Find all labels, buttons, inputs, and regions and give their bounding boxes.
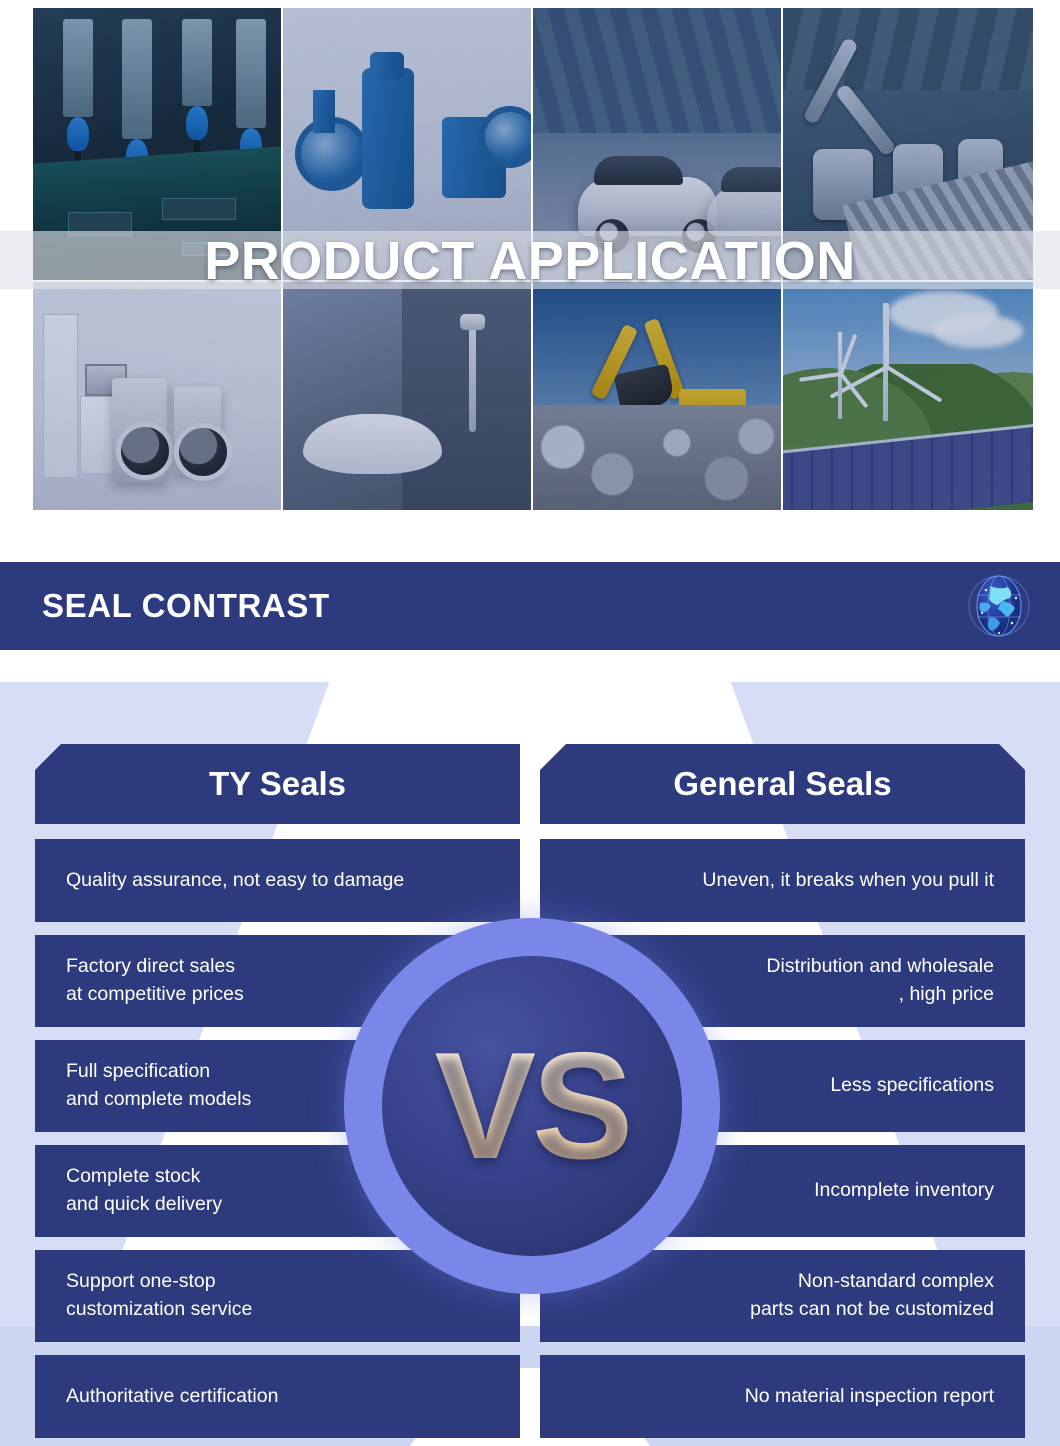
collage-tile-renewable-energy: [783, 282, 1033, 510]
cell-ty-seals: Authoritative certification: [35, 1355, 520, 1438]
collage-tile-construction-excavator: [533, 282, 781, 510]
tile-overlay: [33, 282, 281, 510]
tile-overlay: [783, 282, 1033, 510]
globe-icon: [966, 573, 1032, 639]
cell-general-seals: No material inspection report: [540, 1355, 1025, 1438]
section-title: SEAL CONTRAST: [42, 587, 330, 625]
seal-contrast-banner: SEAL CONTRAST: [0, 562, 1060, 650]
comparison-headers: TY Seals General Seals: [35, 744, 1025, 824]
page-title: PRODUCT APPLICATION: [0, 228, 1060, 294]
product-application-collage: PRODUCT APPLICATION: [0, 0, 1060, 516]
cell-ty-seals: Quality assurance, not easy to damage: [35, 839, 520, 922]
vs-label: VS: [435, 1030, 630, 1182]
column-header-ty-seals[interactable]: TY Seals: [35, 744, 520, 824]
table-row: Authoritative certification No material …: [35, 1355, 1025, 1438]
tile-overlay: [283, 282, 531, 510]
table-row: Quality assurance, not easy to damage Un…: [35, 839, 1025, 922]
vs-badge: VS: [344, 918, 720, 1294]
vs-badge-inner: VS: [382, 956, 682, 1256]
tile-overlay: [533, 282, 781, 510]
collage-tile-bathroom-sanitary: [283, 282, 531, 510]
collage-tile-home-appliances: [33, 282, 281, 510]
column-header-general-seals[interactable]: General Seals: [540, 744, 1025, 824]
cell-general-seals: Uneven, it breaks when you pull it: [540, 839, 1025, 922]
